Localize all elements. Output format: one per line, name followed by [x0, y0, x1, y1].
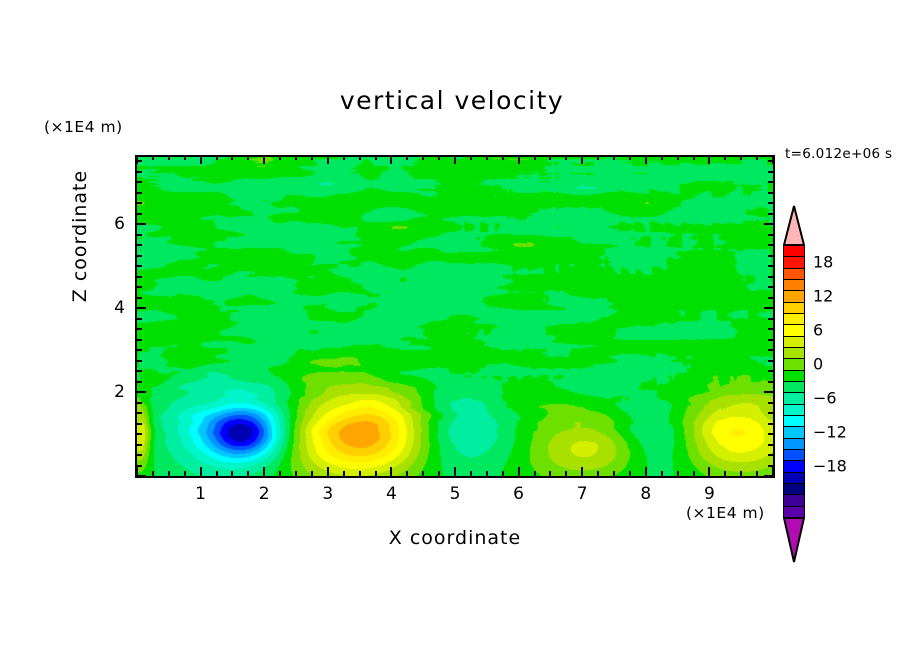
z-axis-tick	[137, 423, 142, 425]
x-axis-tick	[756, 471, 758, 476]
z-axis-tick	[768, 213, 773, 215]
x-axis-tick	[343, 155, 345, 160]
z-axis-tick	[137, 433, 142, 435]
x-axis-tick	[693, 155, 695, 160]
colorbar-tick-label: 0	[813, 354, 823, 373]
x-axis-tick	[295, 471, 297, 476]
x-axis-tick	[645, 155, 647, 164]
x-axis-tick	[311, 471, 313, 476]
colorbar-tick-label: −12	[813, 422, 847, 441]
z-axis-tick	[768, 339, 773, 341]
z-axis-tick	[137, 192, 142, 194]
x-axis-tick	[247, 471, 249, 476]
x-axis-tick	[454, 467, 456, 476]
x-axis-tick	[216, 155, 218, 160]
x-axis-tick	[359, 471, 361, 476]
x-axis-tick-label: 4	[386, 484, 397, 504]
z-axis-tick	[137, 465, 142, 467]
x-axis-tick	[470, 471, 472, 476]
x-axis-title: X coordinate	[135, 527, 775, 549]
z-axis-tick	[137, 202, 142, 204]
z-axis-tick-label: 4	[97, 298, 125, 318]
x-axis-tick	[740, 155, 742, 160]
z-axis-tick	[768, 160, 773, 162]
x-axis-tick	[645, 467, 647, 476]
x-axis-tick	[327, 155, 329, 164]
z-axis-tick	[137, 265, 142, 267]
z-axis-tick	[137, 223, 146, 225]
x-axis-tick	[708, 467, 710, 476]
z-axis-tick	[768, 265, 773, 267]
x-axis-tick	[279, 155, 281, 160]
z-axis-tick	[764, 475, 773, 477]
x-axis-tick	[422, 155, 424, 160]
z-axis-tick	[768, 402, 773, 404]
z-axis-tick	[768, 171, 773, 173]
z-axis-tick	[137, 370, 142, 372]
axis-decorations: 123456789246	[0, 0, 904, 654]
z-axis-tick	[768, 276, 773, 278]
z-axis-tick	[768, 181, 773, 183]
x-axis-tick	[629, 155, 631, 160]
x-axis-tick	[597, 471, 599, 476]
z-axis-tick	[137, 412, 142, 414]
x-axis-tick	[406, 471, 408, 476]
x-axis-tick-label: 2	[259, 484, 270, 504]
z-axis-tick	[768, 255, 773, 257]
x-axis-tick	[693, 471, 695, 476]
x-axis-tick	[677, 471, 679, 476]
x-axis-tick	[470, 155, 472, 160]
colorbar-tick-label: 6	[813, 320, 823, 339]
z-axis-tick	[137, 181, 142, 183]
z-axis-tick	[768, 433, 773, 435]
x-axis-tick-label: 7	[577, 484, 588, 504]
x-axis-tick	[152, 155, 154, 160]
z-axis-tick	[137, 307, 146, 309]
z-axis-tick	[137, 339, 142, 341]
x-axis-tick	[502, 471, 504, 476]
z-axis-tick-label: 6	[97, 214, 125, 234]
x-axis-tick-label: 8	[640, 484, 651, 504]
z-axis-tick	[137, 213, 142, 215]
x-axis-tick	[708, 155, 710, 164]
z-axis-tick	[137, 234, 142, 236]
x-axis-tick	[168, 471, 170, 476]
colorbar-tick-label: 12	[813, 286, 833, 305]
x-axis-tick	[311, 155, 313, 160]
x-axis-tick	[677, 155, 679, 160]
x-axis-tick-label: 1	[195, 484, 206, 504]
z-axis-tick	[768, 370, 773, 372]
x-axis-tick	[756, 155, 758, 160]
z-axis-tick-label: 2	[97, 382, 125, 402]
colorbar-tick-label: −18	[813, 456, 847, 475]
x-axis-tick	[518, 467, 520, 476]
colorbar-over-cap	[783, 205, 805, 245]
x-axis-tick	[375, 471, 377, 476]
x-axis-tick	[247, 155, 249, 160]
x-axis-tick	[597, 155, 599, 160]
x-axis-tick	[629, 471, 631, 476]
colorbar-tick-label: −6	[813, 388, 837, 407]
y-axis-title: Z coordinate	[69, 146, 91, 326]
x-axis-tick	[152, 471, 154, 476]
z-axis-tick	[768, 465, 773, 467]
z-axis-tick	[764, 223, 773, 225]
x-axis-tick	[486, 471, 488, 476]
z-axis-tick	[768, 286, 773, 288]
x-axis-tick	[200, 467, 202, 476]
z-axis-tick	[137, 276, 142, 278]
z-axis-tick	[768, 328, 773, 330]
x-axis-tick	[438, 471, 440, 476]
x-axis-tick	[263, 155, 265, 164]
x-axis-tick	[184, 155, 186, 160]
z-axis-tick	[768, 412, 773, 414]
x-axis-tick	[390, 155, 392, 164]
x-axis-tick	[200, 155, 202, 164]
z-axis-tick	[137, 160, 142, 162]
z-axis-tick	[764, 391, 773, 393]
x-axis-tick	[359, 155, 361, 160]
z-axis-tick	[137, 171, 142, 173]
colorbar[interactable]: 181260−6−12−18	[783, 205, 843, 525]
z-axis-tick	[137, 328, 142, 330]
x-axis-tick	[279, 471, 281, 476]
x-axis-tick	[406, 155, 408, 160]
x-axis-tick	[613, 155, 615, 160]
z-axis-tick	[768, 349, 773, 351]
x-axis-tick-label: 6	[513, 484, 524, 504]
x-axis-tick	[534, 155, 536, 160]
z-axis-tick	[768, 454, 773, 456]
x-axis-tick	[168, 155, 170, 160]
x-axis-tick	[581, 467, 583, 476]
z-axis-tick	[137, 255, 142, 257]
z-axis-tick	[768, 244, 773, 246]
z-axis-tick	[137, 475, 146, 477]
x-axis-tick	[661, 471, 663, 476]
x-axis-tick	[454, 155, 456, 164]
x-axis-tick	[486, 155, 488, 160]
x-axis-tick	[502, 155, 504, 160]
z-axis-tick	[137, 349, 142, 351]
x-axis-tick-label: 3	[322, 484, 333, 504]
z-axis-tick	[137, 286, 142, 288]
z-axis-tick	[137, 402, 142, 404]
x-axis-tick	[231, 155, 233, 160]
x-axis-tick	[740, 471, 742, 476]
x-axis-tick	[724, 155, 726, 160]
x-axis-tick	[438, 155, 440, 160]
x-axis-tick	[295, 155, 297, 160]
z-axis-tick	[137, 360, 142, 362]
x-axis-tick	[231, 471, 233, 476]
z-axis-tick	[137, 244, 142, 246]
z-axis-tick	[764, 307, 773, 309]
z-axis-tick	[768, 234, 773, 236]
x-axis-tick	[581, 155, 583, 164]
x-axis-tick	[327, 467, 329, 476]
z-axis-tick	[137, 318, 142, 320]
x-axis-tick	[216, 471, 218, 476]
x-axis-tick	[184, 471, 186, 476]
z-axis-tick	[768, 444, 773, 446]
x-axis-tick	[263, 467, 265, 476]
z-axis-tick	[768, 381, 773, 383]
x-axis-tick	[390, 467, 392, 476]
z-axis-tick	[768, 318, 773, 320]
x-axis-tick	[549, 155, 551, 160]
x-axis-tick	[613, 471, 615, 476]
x-axis-tick-label: 9	[704, 484, 715, 504]
z-axis-tick	[137, 297, 142, 299]
z-axis-tick	[768, 192, 773, 194]
z-axis-tick	[768, 360, 773, 362]
z-axis-tick	[137, 454, 142, 456]
x-axis-tick	[661, 155, 663, 160]
x-axis-tick	[565, 471, 567, 476]
z-axis-tick	[137, 444, 142, 446]
x-axis-tick	[549, 471, 551, 476]
x-axis-tick	[724, 471, 726, 476]
z-axis-tick	[768, 423, 773, 425]
x-axis-tick-label: 5	[450, 484, 461, 504]
z-axis-tick	[768, 202, 773, 204]
z-axis-tick	[137, 381, 142, 383]
x-axis-tick	[343, 471, 345, 476]
colorbar-under-cap	[783, 517, 805, 563]
z-axis-tick	[137, 391, 146, 393]
x-axis-tick	[518, 155, 520, 164]
x-axis-tick	[534, 471, 536, 476]
colorbar-tick-label: 18	[813, 252, 833, 271]
x-axis-tick	[565, 155, 567, 160]
x-axis-tick	[375, 155, 377, 160]
x-axis-unit-label: (×1E4 m)	[686, 504, 765, 522]
x-axis-tick	[422, 471, 424, 476]
z-axis-tick	[768, 297, 773, 299]
